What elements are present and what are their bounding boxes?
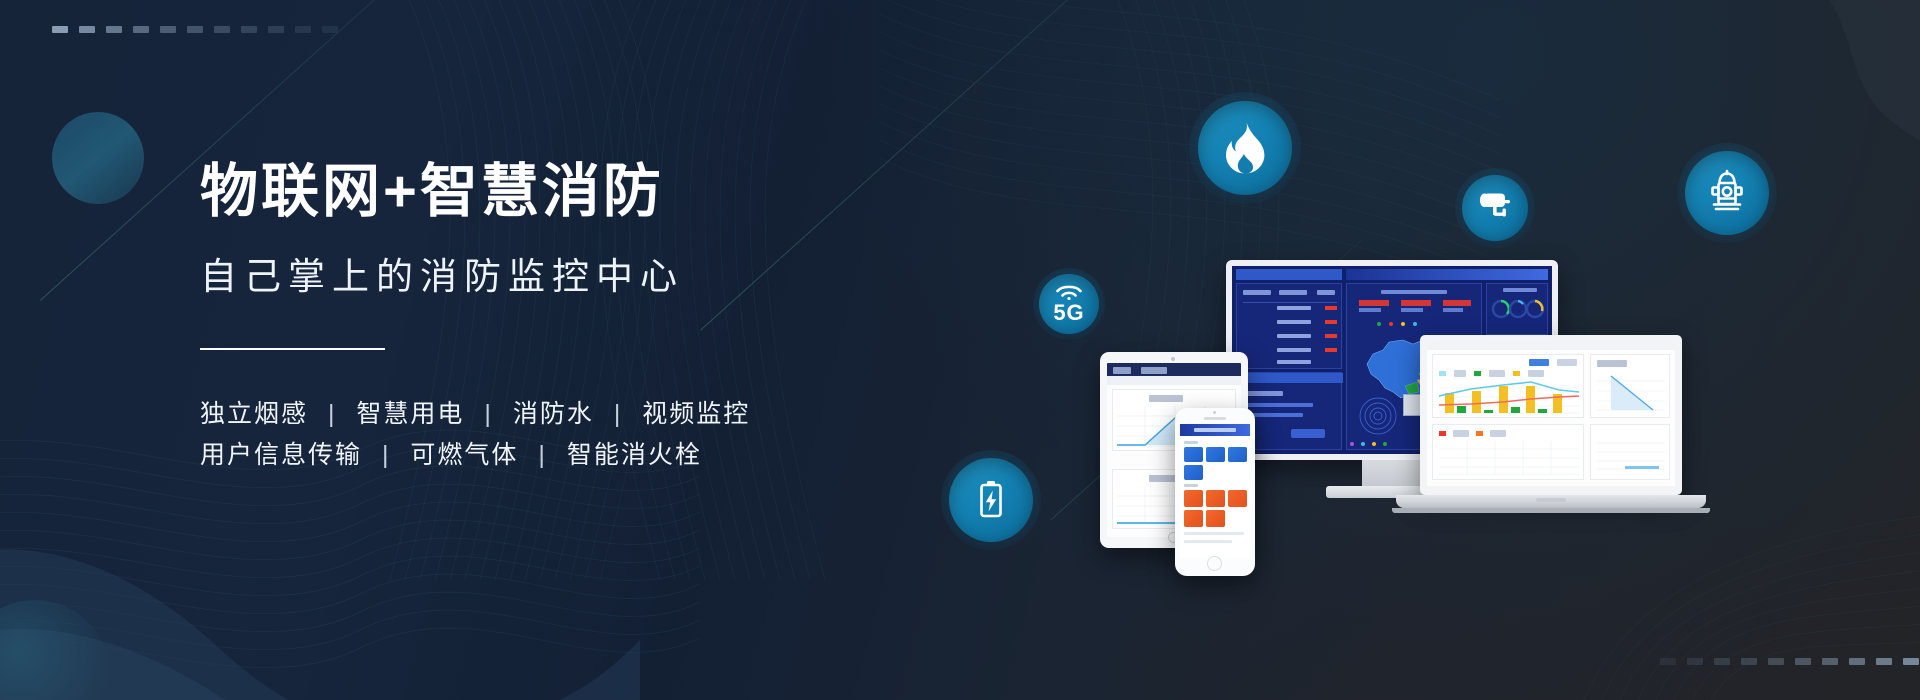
laptop-bar-chart-card (1432, 354, 1584, 418)
badge-smart-electricity[interactable] (941, 450, 1041, 550)
badge-fire-hydrant[interactable] (1677, 143, 1777, 243)
hero-copy: 物联网+智慧消防 自己掌上的消防监控中心 独立烟感 | 智慧用电 | 消防水 |… (200, 160, 920, 476)
feature-item: 独立烟感 (200, 400, 308, 428)
feature-separator: | (603, 400, 634, 428)
phone-camera-dot (1213, 411, 1216, 414)
radar-graphic (1356, 394, 1400, 438)
phone-alarm-card[interactable] (1184, 510, 1203, 527)
badge-network-5g[interactable]: 5G (1033, 268, 1105, 340)
phone-alarm-card[interactable] (1228, 490, 1247, 507)
device-mockup-group (1100, 280, 1800, 580)
phone-speaker (1204, 417, 1226, 420)
feature-item: 智慧用电 (356, 400, 464, 428)
badge-5g-content: 5G (1053, 284, 1084, 324)
tablet-camera-dot (1171, 357, 1175, 361)
laptop-screen (1427, 342, 1675, 486)
battery-bolt-icon (972, 477, 1010, 523)
phone-alarm-card[interactable] (1206, 490, 1225, 507)
hero-banner: 物联网+智慧消防 自己掌上的消防监控中心 独立烟感 | 智慧用电 | 消防水 |… (0, 0, 1920, 700)
panel-header-center (1346, 269, 1548, 280)
title-divider (200, 348, 385, 350)
feature-separator: | (527, 441, 558, 469)
phone-home-button[interactable] (1207, 556, 1222, 571)
panel-header-left (1236, 269, 1342, 280)
dash-row-top-left (52, 26, 338, 33)
feature-item: 智能消火栓 (567, 441, 702, 469)
phone-bezel (1175, 408, 1255, 576)
phone-alarm-card[interactable] (1206, 510, 1225, 527)
hydrant-icon (1705, 169, 1749, 217)
badge-video-camera[interactable] (1455, 168, 1535, 248)
phone-status-card[interactable] (1184, 465, 1203, 480)
panel-alarm-table (1236, 283, 1342, 369)
feature-item: 可燃气体 (410, 441, 518, 469)
feature-row: 用户信息传输 | 可燃气体 | 智能消火栓 (200, 435, 920, 476)
phone-status-card[interactable] (1228, 447, 1247, 462)
badge-fire-flame[interactable] (1189, 92, 1301, 204)
feature-separator: | (473, 400, 504, 428)
feature-separator: | (317, 400, 348, 428)
dash-row-bottom-right (1660, 658, 1920, 665)
feature-row: 独立烟感 | 智慧用电 | 消防水 | 视频监控 (200, 394, 920, 435)
decorative-blob-lower-left (0, 520, 640, 700)
panel-gauges (1486, 283, 1548, 335)
glow-circle-bottom-left (0, 600, 110, 700)
feature-item: 消防水 (513, 400, 594, 428)
laptop-bottom-right-card (1590, 424, 1670, 480)
phone-status-card[interactable] (1206, 447, 1225, 462)
phone-alarm-card[interactable] (1184, 490, 1203, 507)
laptop-dashboard (1427, 342, 1675, 486)
laptop-trackpad-notch (1536, 498, 1566, 502)
page-title: 物联网+智慧消防 (200, 160, 920, 224)
cctv-camera-icon (1475, 191, 1515, 225)
flame-icon (1223, 122, 1267, 174)
wifi-signal-icon (1055, 284, 1083, 300)
page-subtitle: 自己掌上的消防监控中心 (200, 246, 920, 300)
feature-separator: | (371, 441, 402, 469)
badge-5g-label: 5G (1053, 302, 1084, 324)
phone-status-card[interactable] (1184, 447, 1203, 462)
laptop-bottom-card (1432, 424, 1584, 480)
glow-circle-left (52, 112, 144, 204)
feature-item: 用户信息传输 (200, 441, 362, 469)
monitor-stand-neck (1362, 460, 1422, 488)
feature-list: 独立烟感 | 智慧用电 | 消防水 | 视频监控 用户信息传输 | 可燃气体 |… (200, 394, 920, 477)
laptop-bezel (1420, 335, 1682, 495)
laptop-foot (1392, 508, 1710, 513)
phone-screen (1180, 424, 1250, 558)
laptop-area-chart-card (1590, 354, 1670, 418)
feature-item: 视频监控 (642, 400, 750, 428)
